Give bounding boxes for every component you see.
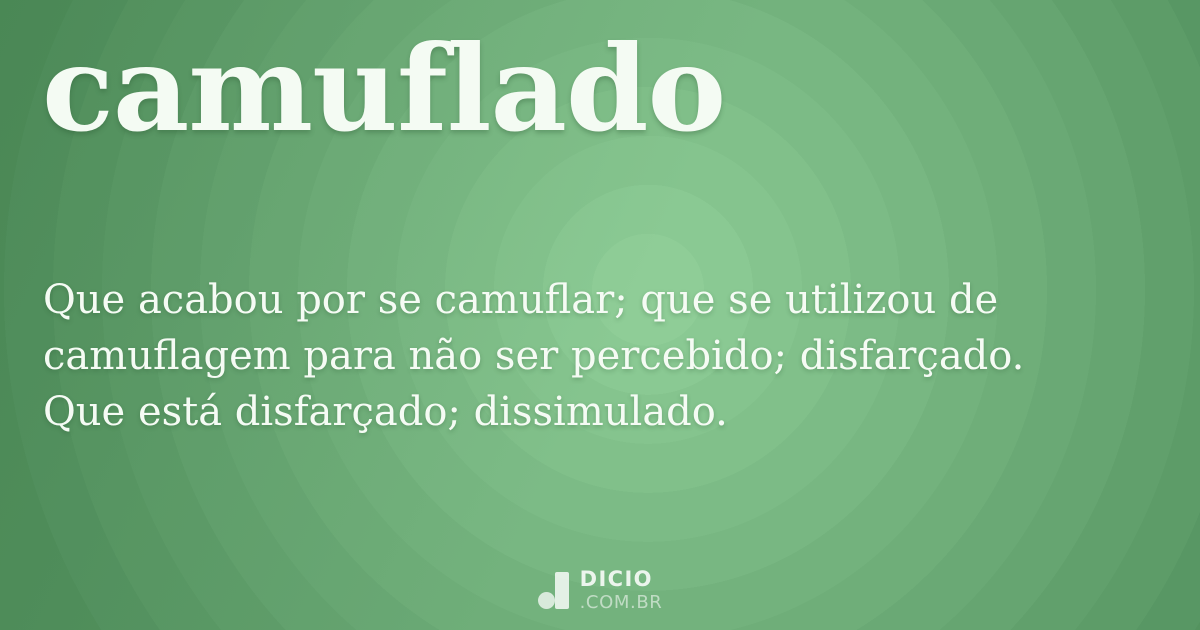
dicio-logo-text: DICIO .COM.BR <box>580 569 663 612</box>
dicio-logo-mark-icon <box>538 572 569 609</box>
circle-icon <box>538 592 555 609</box>
page-title: camuflado <box>42 30 725 148</box>
definition-meaning-1: Que acabou por se camuflar; que se utili… <box>43 272 1150 384</box>
bar-icon <box>555 572 569 609</box>
definition-meaning-2: Que está disfarçado; dissimulado. <box>43 384 1150 440</box>
definition-block: Que acabou por se camuflar; que se utili… <box>43 272 1150 440</box>
dictionary-share-card: camuflado Que acabou por se camuflar; qu… <box>0 0 1200 630</box>
card-content: camuflado Que acabou por se camuflar; qu… <box>0 0 1200 630</box>
logo-brand-domain: .COM.BR <box>580 594 663 612</box>
dicio-logo: DICIO .COM.BR <box>0 569 1200 612</box>
logo-brand-name: DICIO <box>580 569 663 590</box>
